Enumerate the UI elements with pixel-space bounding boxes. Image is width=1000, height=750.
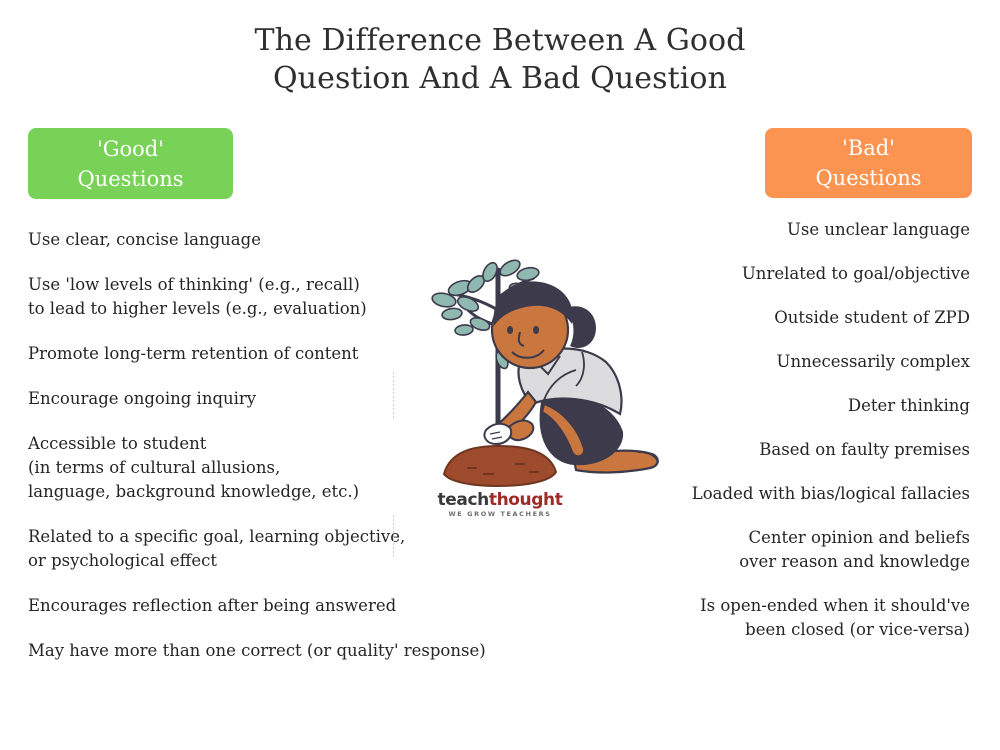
good-question-item-line: (in terms of cultural allusions, [28, 456, 438, 480]
page-title-line-1: The Difference Between A Good [0, 22, 1000, 60]
person-planting-tree-illustration [424, 252, 668, 492]
person-figure [484, 281, 658, 472]
bad-question-item-line: been closed (or vice-versa) [575, 618, 970, 642]
page-title: The Difference Between A Good Question A… [0, 22, 1000, 98]
good-question-item: Promote long-term retention of content [28, 342, 438, 366]
bad-question-item-line: Use unclear language [575, 218, 970, 242]
good-question-item: Encourages reflection after being answer… [28, 594, 438, 618]
teachthought-logo: teachthought WE GROW TEACHERS [0, 492, 1000, 518]
good-question-item-line: Use 'low levels of thinking' (e.g., reca… [28, 273, 438, 297]
good-question-item-line: Promote long-term retention of content [28, 342, 438, 366]
logo-word-first: teach [438, 490, 489, 510]
good-question-item-line: Encourages reflection after being answer… [28, 594, 438, 618]
good-questions-header-badge: 'Good' Questions [28, 128, 233, 199]
good-question-item-line: Related to a specific goal, learning obj… [28, 525, 438, 549]
good-question-item: Related to a specific goal, learning obj… [28, 525, 438, 573]
bad-question-item: Is open-ended when it should'vebeen clos… [575, 594, 970, 642]
good-question-item-line: Accessible to student [28, 432, 438, 456]
logo-tagline: WE GROW TEACHERS [0, 511, 1000, 518]
good-questions-header-line-1: 'Good' [97, 134, 164, 164]
bad-questions-header-line-1: 'Bad' [842, 133, 895, 163]
good-question-item: Encourage ongoing inquiry [28, 387, 438, 411]
good-question-item: Use clear, concise language [28, 228, 438, 252]
bad-question-item: Center opinion and beliefsover reason an… [575, 526, 970, 574]
bad-question-item-line: over reason and knowledge [575, 550, 970, 574]
good-question-item: May have more than one correct (or quali… [28, 639, 438, 663]
good-question-item-line: or psychological effect [28, 549, 438, 573]
good-question-item-line: to lead to higher levels (e.g., evaluati… [28, 297, 438, 321]
good-question-item-line: May have more than one correct (or quali… [28, 639, 438, 663]
bad-question-item-line: Is open-ended when it should've [575, 594, 970, 618]
good-question-item-line: Use clear, concise language [28, 228, 438, 252]
good-questions-list: Use clear, concise languageUse 'low leve… [28, 228, 438, 684]
infographic-page: The Difference Between A Good Question A… [0, 0, 1000, 750]
soil-mound [444, 446, 556, 486]
bad-questions-header-badge: 'Bad' Questions [765, 128, 972, 198]
good-questions-header-line-2: Questions [77, 164, 183, 194]
good-question-item-line: Encourage ongoing inquiry [28, 387, 438, 411]
logo-word-second: thought [489, 490, 563, 510]
divider-left-lower [393, 515, 394, 557]
bad-question-item-line: Center opinion and beliefs [575, 526, 970, 550]
good-question-item: Use 'low levels of thinking' (e.g., reca… [28, 273, 438, 321]
divider-left-upper [393, 372, 394, 420]
bad-question-item: Use unclear language [575, 218, 970, 242]
logo-wordmark: teachthought [438, 490, 563, 510]
page-title-line-2: Question And A Bad Question [0, 60, 1000, 98]
bad-questions-header-line-2: Questions [815, 163, 921, 193]
